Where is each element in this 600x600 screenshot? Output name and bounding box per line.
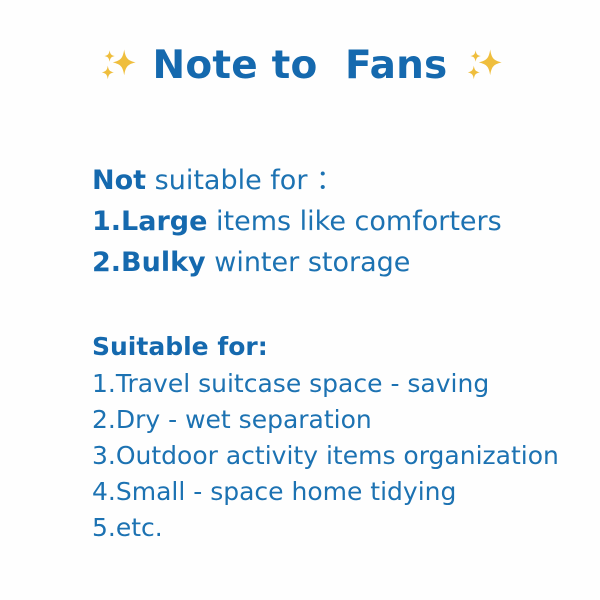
sparkles-icon bbox=[461, 44, 505, 88]
not-suitable-item-rest: items like comforters bbox=[207, 206, 501, 237]
list-item: 1.Travel suitcase space - saving bbox=[92, 366, 559, 402]
not-suitable-item-lead: 1.Large bbox=[92, 206, 207, 237]
not-suitable-item-rest: winter storage bbox=[206, 247, 411, 278]
list-item: 2.Bulky winter storage bbox=[92, 242, 502, 283]
sparkles-icon bbox=[95, 44, 139, 88]
suitable-section: Suitable for: 1.Travel suitcase space - … bbox=[92, 328, 559, 546]
list-item: 5.etc. bbox=[92, 510, 559, 546]
list-item: 3.Outdoor activity items organization bbox=[92, 438, 559, 474]
note-to-fans-card: Note to Fans Not suitable for ： 1.Large … bbox=[0, 0, 600, 600]
not-suitable-heading-rest: suitable for ： bbox=[146, 165, 343, 196]
page-title: Note to Fans bbox=[153, 45, 448, 88]
not-suitable-heading: Not suitable for ： bbox=[92, 160, 502, 201]
page-title-row: Note to Fans bbox=[0, 44, 600, 88]
not-suitable-heading-lead: Not bbox=[92, 165, 146, 196]
suitable-heading: Suitable for: bbox=[92, 328, 559, 366]
list-item: 4.Small - space home tidying bbox=[92, 474, 559, 510]
list-item: 1.Large items like comforters bbox=[92, 201, 502, 242]
not-suitable-section: Not suitable for ： 1.Large items like co… bbox=[92, 160, 502, 283]
list-item: 2.Dry - wet separation bbox=[92, 402, 559, 438]
not-suitable-item-lead: 2.Bulky bbox=[92, 247, 206, 278]
